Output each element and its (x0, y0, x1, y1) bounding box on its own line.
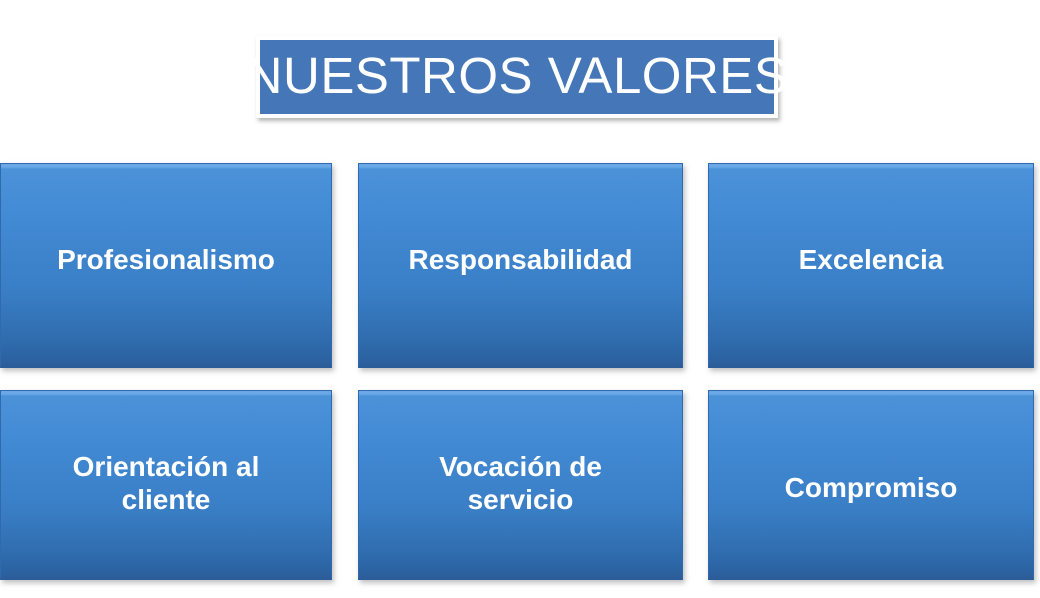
value-box-orientacion-al-cliente[interactable]: Orientación al cliente (0, 390, 332, 580)
value-box-excelencia[interactable]: Excelencia (708, 163, 1034, 368)
value-box-label: Profesionalismo (49, 243, 283, 276)
value-box-label: Excelencia (791, 243, 952, 276)
slide-title-banner: NUESTROS VALORES (256, 36, 778, 118)
page-title: NUESTROS VALORES (246, 50, 789, 104)
value-box-label: Vocación de servicio (431, 450, 610, 516)
value-box-compromiso[interactable]: Compromiso (708, 390, 1034, 580)
value-box-label: Compromiso (777, 471, 966, 504)
value-box-label: Responsabilidad (400, 243, 640, 276)
value-box-label: Orientación al cliente (65, 450, 268, 516)
value-box-responsabilidad[interactable]: Responsabilidad (358, 163, 683, 368)
value-box-vocacion-de-servicio[interactable]: Vocación de servicio (358, 390, 683, 580)
value-box-profesionalismo[interactable]: Profesionalismo (0, 163, 332, 368)
